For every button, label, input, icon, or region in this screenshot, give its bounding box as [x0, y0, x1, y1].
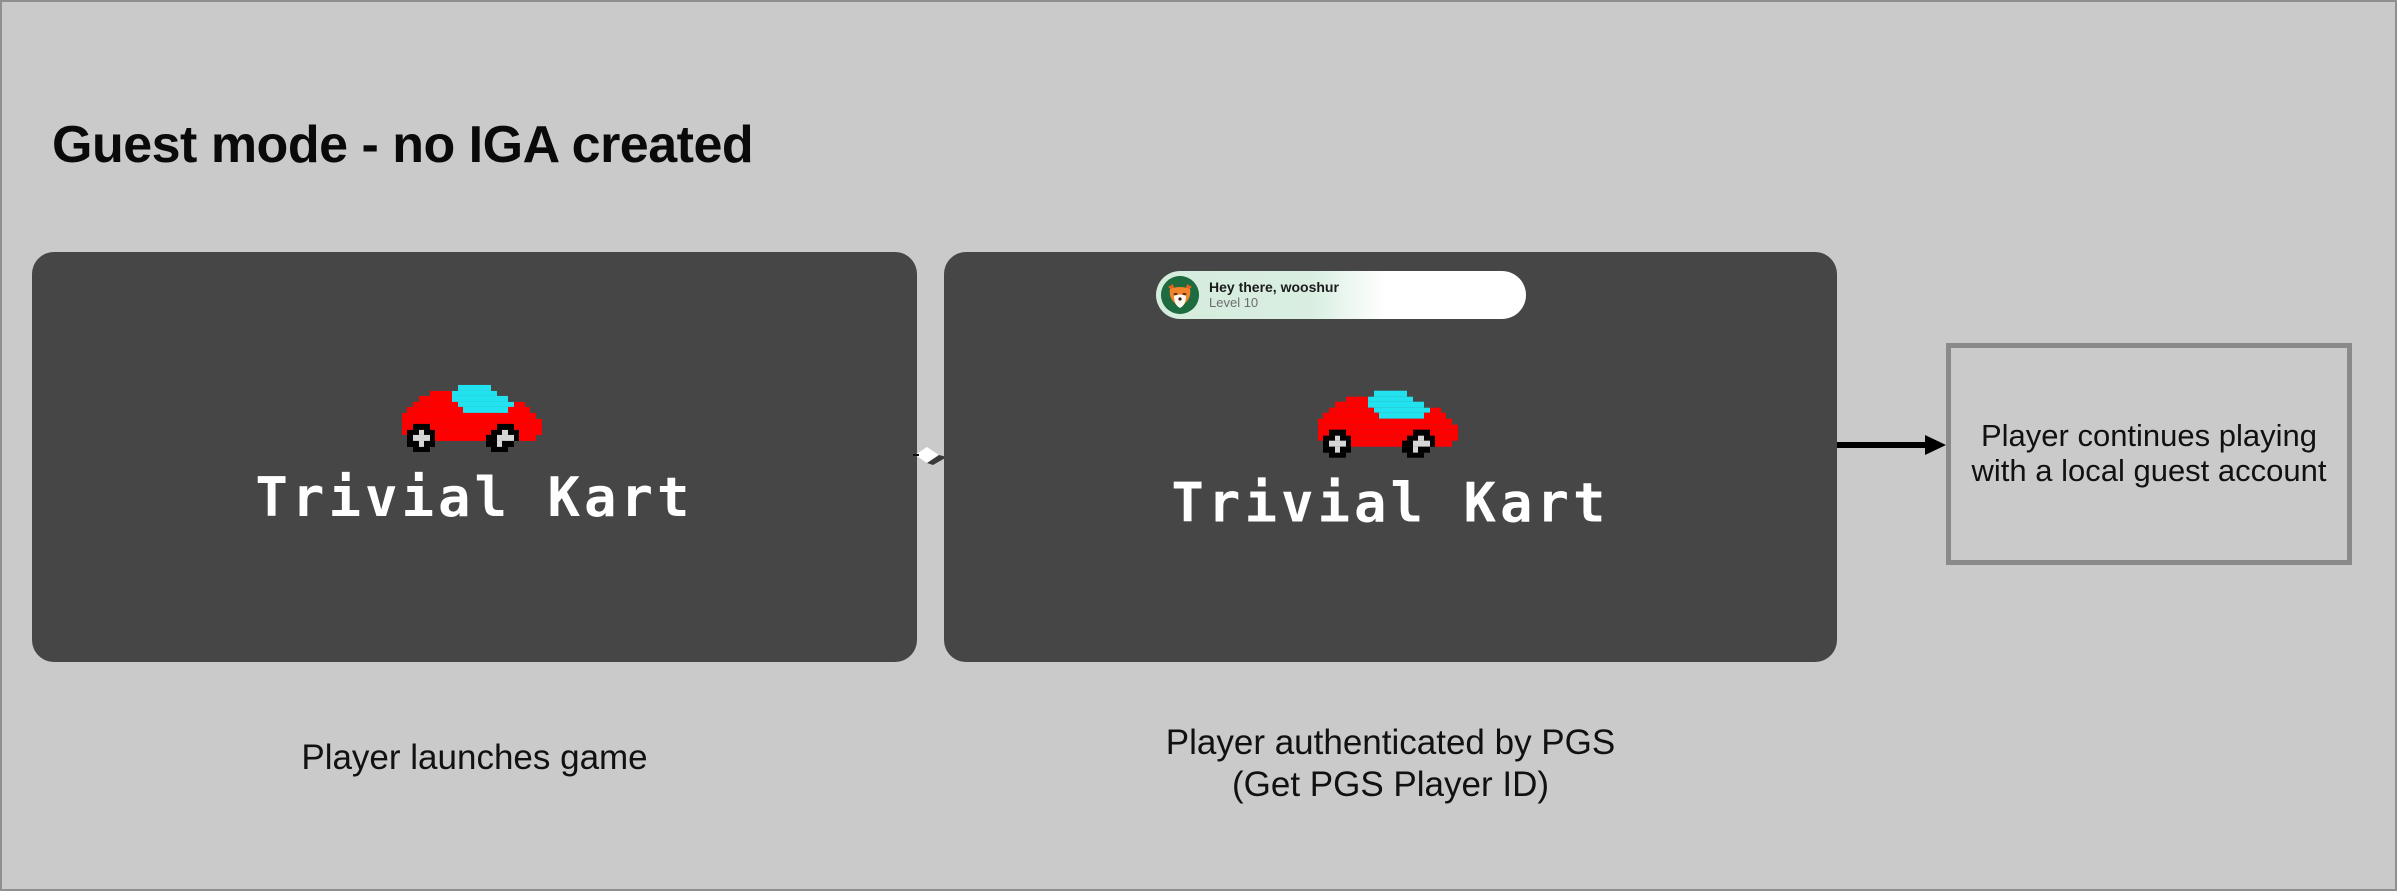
- toast-level: Level 10: [1209, 296, 1339, 311]
- toast-greeting: Hey there, wooshur: [1209, 280, 1339, 296]
- game-screenshot-panel-2: Hey there, wooshur Level 10 Trivial Kart: [944, 252, 1837, 662]
- panel-1-content: Trivial Kart: [32, 385, 917, 529]
- outcome-box: Player continues playing with a local gu…: [1946, 343, 2352, 565]
- pixel-car-icon: [402, 385, 547, 452]
- right-arrow-icon: [1837, 430, 1947, 460]
- panel-1-caption: Player launches game: [32, 737, 917, 779]
- pixel-car-icon: [1318, 391, 1463, 458]
- panel-2-caption: Player authenticated by PGS (Get PGS Pla…: [944, 722, 1837, 806]
- game-screenshot-panel-1: Trivial Kart: [32, 252, 917, 662]
- toast-text-block: Hey there, wooshur Level 10: [1209, 280, 1339, 310]
- game-logo-text: Trivial Kart: [255, 466, 693, 529]
- outcome-text: Player continues playing with a local gu…: [1951, 419, 2347, 488]
- pgs-welcome-toast[interactable]: Hey there, wooshur Level 10: [1156, 271, 1526, 319]
- diagram-canvas: Guest mode - no IGA created Trivial Kart: [0, 0, 2397, 891]
- fox-avatar-icon: [1161, 276, 1199, 314]
- page-title: Guest mode - no IGA created: [52, 115, 753, 175]
- game-logo-text: Trivial Kart: [1171, 472, 1609, 535]
- panel-2-content: Trivial Kart: [944, 391, 1837, 535]
